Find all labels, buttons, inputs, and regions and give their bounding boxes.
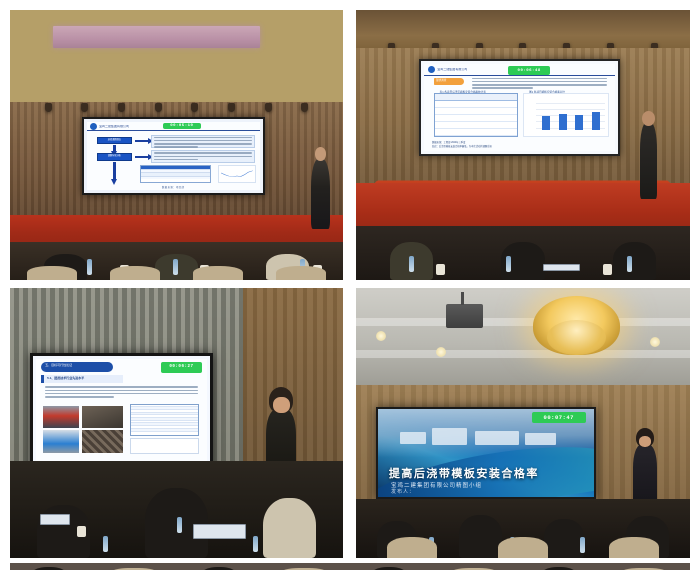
photo-collage: 宝鸡二建集团有限公司 00:05:10 选择课题理由 课题背景分析 [0, 0, 700, 570]
audience-head [32, 567, 66, 570]
flow-box-1-label: 选择课题理由 [98, 138, 131, 142]
ceiling-spotlight-row [30, 100, 323, 114]
coffered-ceiling [356, 288, 690, 391]
table-row [435, 115, 517, 122]
logo-text: 宝鸡二建集团有限公司 [99, 125, 129, 128]
ceiling-beam [356, 318, 690, 326]
building-shape [475, 431, 518, 445]
slide-notes: 数据来源：工程部 2024年三季度 结论：后浇带模板安装合格率偏低，为本次活动的… [432, 142, 607, 149]
flow-box-1: 选择课题理由 [97, 137, 132, 145]
table-row [131, 429, 197, 432]
laptop [543, 264, 580, 271]
table-row [435, 122, 517, 129]
countdown-timer: 00:06:27 [161, 362, 202, 373]
trend-sparkline-chart [218, 165, 256, 183]
chair [276, 266, 326, 280]
ceiling-beam [356, 350, 690, 358]
slide-1-table [140, 165, 211, 183]
logo-text: 宝鸡二建集团有限公司 [437, 68, 467, 71]
chair [110, 266, 160, 280]
crystal-rod-ceiling [10, 10, 343, 107]
arrow-right-icon [135, 140, 149, 142]
presenter-figure [311, 159, 329, 229]
spotlight-icon [155, 103, 162, 112]
cropped-audience-row [10, 563, 690, 570]
audience-foreground [356, 499, 690, 558]
chair [498, 537, 548, 558]
chair [387, 537, 437, 558]
logo-mark-icon [428, 66, 435, 73]
logo-mark-icon [90, 123, 97, 130]
qualification-bar-chart [523, 93, 609, 137]
audience-head [372, 567, 406, 570]
photo-bottom-right: 提高后浇带模板安装合格率 宝鸡二建集团有限公司精图小组 发布人： 00:07:4… [356, 288, 690, 558]
section-tag-label: 现状调查 [434, 78, 464, 85]
flow-box-2: 课题背景分析 [97, 153, 132, 161]
bar-item [592, 112, 600, 130]
table-row [435, 108, 517, 115]
flow-box-2-label: 课题背景分析 [98, 154, 131, 158]
audience-head [202, 567, 236, 570]
slide-photo-rebar [82, 430, 123, 452]
presentation-screen-1: 宝鸡二建集团有限公司 00:05:10 选择课题理由 课题背景分析 [82, 117, 265, 195]
spotlight-icon [81, 103, 88, 112]
audience-foreground [356, 226, 690, 280]
slide-photo-team [43, 406, 79, 428]
technical-parameter-table [130, 404, 198, 436]
table-row [435, 101, 517, 108]
ceiling-projector [446, 304, 483, 328]
company-logo: 宝鸡二建集团有限公司 [428, 65, 485, 73]
chair [27, 266, 77, 280]
arrow-down-long-icon [113, 162, 116, 180]
paper-cup [77, 526, 86, 537]
paragraph-lines [152, 136, 254, 151]
building-shape [525, 433, 555, 444]
audience-head [263, 498, 316, 558]
paragraph-lines [43, 385, 200, 400]
chair [193, 266, 243, 280]
chair-row [10, 266, 343, 280]
slide-3: 五、目标可行性论证 00:06:27 5.1、团员技术行业先进水平 [36, 359, 207, 466]
paragraph-lines [152, 151, 254, 163]
slide-presenter-line: 发布人： [391, 488, 415, 495]
water-bottle [253, 536, 258, 552]
presentation-screen-3: 五、目标可行性论证 00:06:27 5.1、团员技术行业先进水平 [30, 353, 213, 472]
paragraph-block-1 [151, 135, 255, 149]
sparkline-icon [221, 170, 253, 179]
spotlight-icon [191, 103, 198, 112]
spotlight-icon [45, 103, 52, 112]
countdown-timer: 00:07:47 [532, 412, 586, 423]
laptop [40, 514, 70, 525]
countdown-timer: 00:06:48 [508, 66, 550, 75]
chair [609, 537, 659, 558]
intro-paragraph [470, 77, 609, 88]
sub-heading: 5.1、团员技术行业先进水平 [41, 375, 123, 384]
table-row [435, 129, 517, 136]
bar-item [575, 115, 583, 130]
audience-head [613, 242, 656, 280]
audience-heads [10, 461, 343, 558]
slide-2: 宝鸡二建集团有限公司 00:06:48 现状调查 表1 各项目后浇带模板安装合格… [424, 64, 614, 151]
table-row [141, 176, 210, 179]
note-line-2: 结论：后浇带模板安装合格率偏低，为本次活动的课题背景 [432, 146, 607, 149]
bar-group [538, 103, 604, 130]
slide-footer-left: 数据来源：项目部 [87, 185, 260, 189]
section-tag: 现状调查 [434, 78, 464, 85]
spotlight-icon [301, 103, 308, 112]
water-bottle [627, 256, 632, 272]
water-bottle [506, 256, 511, 272]
building-shape [432, 428, 467, 445]
audience-foreground [10, 242, 343, 280]
section-heading-bar: 五、目标可行性论证 [41, 362, 113, 372]
presenter-figure [640, 123, 657, 199]
water-bottle [177, 517, 182, 533]
sub-heading-label: 5.1、团员技术行业先进水平 [44, 376, 84, 380]
audience-heads [356, 226, 690, 280]
spotlight-icon [118, 103, 125, 112]
table-header-row [435, 94, 517, 101]
water-bottle [103, 536, 108, 552]
water-bottle [409, 256, 414, 272]
section-heading-label: 五、目标可行性论证 [41, 363, 72, 367]
chair-row [356, 537, 690, 558]
paragraph-block-2 [151, 150, 255, 162]
process-diagram [130, 438, 198, 454]
audience-foreground [10, 461, 343, 558]
photo-bottom-left: 五、目标可行性论证 00:06:27 5.1、团员技术行业先进水平 [10, 288, 343, 558]
downlight-icon [650, 337, 660, 347]
spotlight-icon [265, 103, 272, 112]
company-logo: 宝鸡二建集团有限公司 [90, 123, 142, 129]
photo-bottom-strip [10, 563, 690, 570]
audience-head [542, 567, 576, 570]
bar-item [559, 114, 567, 130]
quality-rate-table [434, 93, 518, 137]
hall-banner [53, 26, 259, 48]
slide-photo-room [43, 430, 79, 452]
countdown-timer: 00:05:10 [163, 123, 201, 129]
slide-photo-site [82, 406, 123, 428]
body-paragraph [43, 385, 200, 402]
bar-item [542, 116, 550, 130]
paper-cup [436, 264, 445, 275]
photo-top-right: 宝鸡二建集团有限公司 00:06:48 现状调查 表1 各项目后浇带模板安装合格… [356, 10, 690, 280]
presentation-screen-4: 提高后浇带模板安装合格率 宝鸡二建集团有限公司精图小组 发布人： 00:07:4… [376, 407, 596, 499]
crystal-chandelier [533, 296, 620, 355]
arrow-down-icon [113, 145, 116, 152]
arrow-right-icon [135, 156, 149, 158]
slide-title: 提高后浇带模板安装合格率 [389, 465, 539, 481]
laptop [193, 524, 246, 539]
presentation-screen-2: 宝鸡二建集团有限公司 00:06:48 现状调查 表1 各项目后浇带模板安装合格… [419, 59, 619, 156]
photo-top-left: 宝鸡二建集团有限公司 00:05:10 选择课题理由 课题背景分析 [10, 10, 343, 280]
spotlight-icon [228, 103, 235, 112]
building-shape [400, 432, 426, 444]
slide-1: 宝鸡二建集团有限公司 00:05:10 选择课题理由 课题背景分析 [87, 122, 260, 190]
paper-cup [603, 264, 612, 275]
